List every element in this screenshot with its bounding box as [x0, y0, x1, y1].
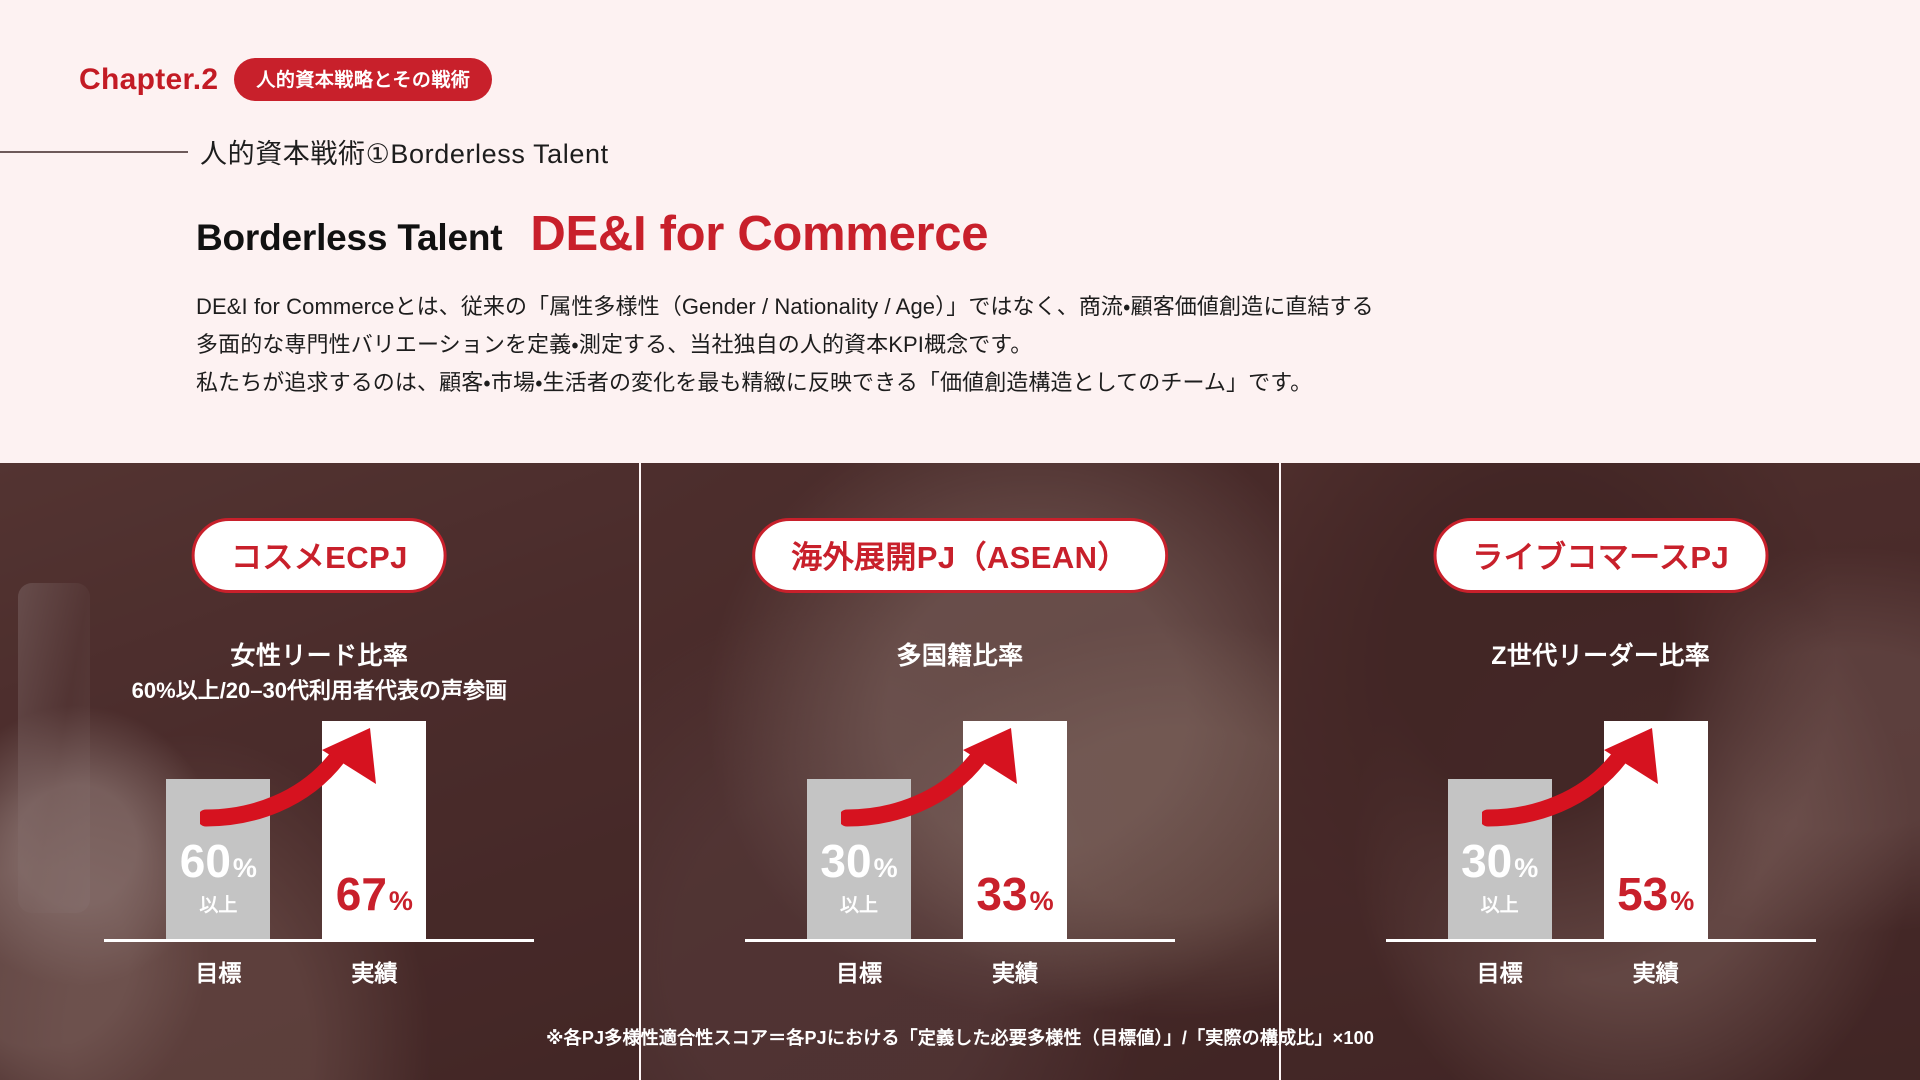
metric-title-3: Z世代リーダー比率	[1491, 636, 1710, 672]
headline-accent: DE&I for Commerce	[530, 206, 988, 262]
body-line-1: DE&I for Commerceとは、従来の「属性多様性（Gender / N…	[196, 288, 1816, 326]
chapter-pill-badge: 人的資本戦略とその戦術	[234, 58, 492, 101]
bar-target-unit-3: %	[1514, 855, 1538, 882]
growth-arrow-icon-2	[841, 722, 1041, 832]
bar-actual-value-2: 33%	[976, 871, 1053, 917]
bar-chart-1: 60% 以上 67% 目標 実績	[104, 672, 534, 1002]
bar-actual-value-3: 53%	[1617, 871, 1694, 917]
panels-section: コスメECPJ 女性リード比率 60%以上/20–30代利用者代表の声参画 60…	[0, 463, 1920, 1080]
header-section: Chapter.2 人的資本戦略とその戦術 人的資本戦術①Borderless …	[0, 0, 1920, 463]
bar-actual-number-2: 33	[976, 871, 1027, 917]
chart-baseline-2	[745, 939, 1175, 942]
headline-english: Borderless Talent	[196, 217, 502, 259]
caption-target-1: 目標	[166, 954, 270, 988]
bar-chart-3: 30% 以上 53% 目標 実績	[1386, 672, 1816, 1002]
caption-actual-1: 実績	[322, 954, 426, 988]
panel-pill-2: 海外展開PJ（ASEAN）	[752, 518, 1168, 593]
bar-target-note-1: 以上	[199, 890, 237, 917]
bar-actual-value-1: 67%	[336, 871, 413, 917]
bar-target-number-1: 60	[180, 838, 231, 884]
section-title: 人的資本戦術①Borderless Talent	[200, 132, 609, 171]
bar-target-number-2: 30	[820, 838, 871, 884]
bar-actual-unit-1: %	[389, 888, 413, 915]
headline-row: Borderless Talent DE&I for Commerce	[196, 206, 988, 262]
caption-target-2: 目標	[807, 954, 911, 988]
chapter-label: Chapter.2	[79, 63, 218, 97]
metric-title-1: 女性リード比率	[230, 636, 408, 672]
bar-actual-unit-2: %	[1030, 888, 1054, 915]
bar-chart-2: 30% 以上 33% 目標 実績	[745, 672, 1175, 1002]
caption-actual-2: 実績	[963, 954, 1067, 988]
panel-overseas-asean: 海外展開PJ（ASEAN） 多国籍比率 30% 以上 33%	[639, 463, 1280, 1080]
chart-baseline-1	[104, 939, 534, 942]
bar-actual-number-1: 67	[336, 871, 387, 917]
section-heading-row: 人的資本戦術①Borderless Talent	[0, 132, 900, 171]
body-line-3: 私たちが追求するのは、顧客・市場・生活者の変化を最も精緻に反映できる「価値創造構…	[196, 364, 1816, 402]
growth-arrow-icon-1	[200, 722, 400, 832]
growth-arrow-icon-3	[1482, 722, 1682, 832]
caption-target-3: 目標	[1448, 954, 1552, 988]
chapter-row: Chapter.2 人的資本戦略とその戦術	[79, 58, 492, 101]
bar-target-value-3: 30%	[1461, 838, 1538, 884]
footnote-text: ※各PJ多様性適合性スコア＝各PJにおける「定義した必要多様性（目標値）」/「実…	[260, 1024, 1660, 1050]
body-line-2: 多面的な専門性バリエーションを定義・測定する、当社独自の人的資本KPI概念です。	[196, 326, 1816, 364]
bar-target-unit-2: %	[874, 855, 898, 882]
bar-target-note-2: 以上	[840, 890, 878, 917]
caption-actual-3: 実績	[1604, 954, 1708, 988]
section-rule-divider	[0, 151, 188, 153]
slide-root: Chapter.2 人的資本戦略とその戦術 人的資本戦術①Borderless …	[0, 0, 1920, 1080]
panel-pill-1: コスメECPJ	[192, 518, 447, 593]
bar-target-note-3: 以上	[1481, 890, 1519, 917]
bar-target-unit-1: %	[233, 855, 257, 882]
metric-title-2: 多国籍比率	[896, 636, 1023, 672]
bar-target-number-3: 30	[1461, 838, 1512, 884]
bar-target-value-2: 30%	[820, 838, 897, 884]
panel-live-commerce: ライブコマースPJ Z世代リーダー比率 30% 以上 53%	[1279, 463, 1920, 1080]
bar-actual-unit-3: %	[1670, 888, 1694, 915]
body-copy: DE&I for Commerceとは、従来の「属性多様性（Gender / N…	[196, 288, 1816, 401]
bar-target-value-1: 60%	[180, 838, 257, 884]
bar-actual-number-3: 53	[1617, 871, 1668, 917]
chart-baseline-3	[1386, 939, 1816, 942]
panel-pill-3: ライブコマースPJ	[1433, 518, 1768, 593]
panel-cosme-ec: コスメECPJ 女性リード比率 60%以上/20–30代利用者代表の声参画 60…	[0, 463, 639, 1080]
